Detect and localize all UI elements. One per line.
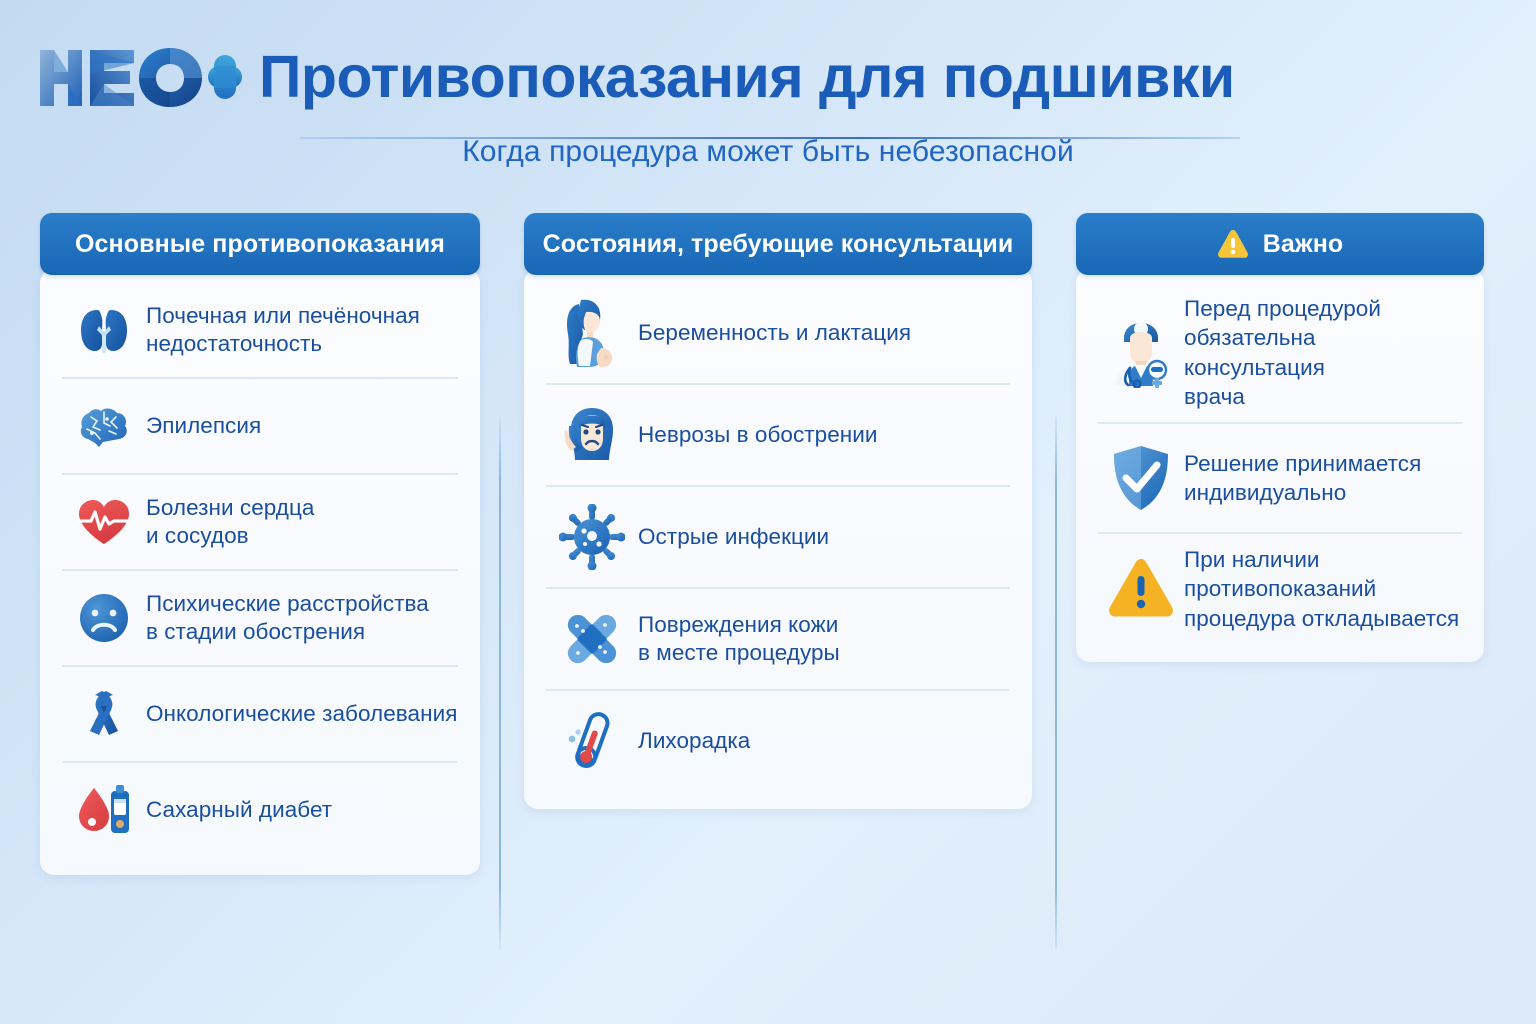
list-item-label: Беременность и лактация — [638, 319, 911, 347]
card-conditions-requiring-consultation: Состояния, требующие консультации — [524, 213, 1032, 809]
column-separator-2 — [1055, 417, 1057, 950]
list-item[interactable]: Почечная или печёночная недостаточность — [62, 283, 458, 377]
list-item[interactable]: Сахарный диабет — [62, 761, 458, 857]
virus-icon — [546, 504, 638, 570]
page-subtitle: Когда процедура может быть небезопасной — [0, 135, 1536, 169]
list-item[interactable]: Решение принимается индивидуально — [1098, 422, 1462, 532]
list-item-label: Сахарный диабет — [146, 796, 332, 824]
list-item[interactable]: Беременность и лактация — [546, 283, 1010, 383]
warning-triangle-icon — [1217, 229, 1249, 259]
warning-triangle-icon — [1098, 557, 1184, 621]
page-header: Противопоказания для подшивки Когда проц… — [0, 0, 1536, 169]
stressed-woman-icon — [546, 400, 638, 470]
column-separator-1 — [499, 417, 501, 950]
list-item[interactable]: Повреждения кожи в месте процедуры — [546, 587, 1010, 689]
list-item-label: При наличии противопоказаний процедура о… — [1184, 545, 1459, 633]
card-body-conditions: Беременность и лактация — [524, 269, 1032, 809]
brand-logo — [38, 42, 243, 112]
card-header-important[interactable]: Важно — [1076, 213, 1484, 275]
list-item[interactable]: Болезни сердца и сосудов — [62, 473, 458, 569]
card-header-main-contraindications[interactable]: Основные противопоказания — [40, 213, 480, 275]
glucometer-blood-drop-icon — [62, 779, 146, 841]
neo-plus-logo-icon — [38, 44, 243, 110]
card-main-contraindications: Основные противопоказания Почечная или п… — [40, 213, 480, 875]
list-item[interactable]: Неврозы в обострении — [546, 383, 1010, 485]
list-item[interactable]: Эпилепсия — [62, 377, 458, 473]
list-item-label: Онкологические заболевания — [146, 700, 457, 728]
list-item-label: Почечная или печёночная недостаточность — [146, 302, 420, 358]
doctor-icon — [1098, 318, 1184, 388]
pregnant-woman-icon — [546, 294, 638, 372]
bandage-icon — [546, 606, 638, 672]
page-title: Противопоказания для подшивки — [259, 48, 1235, 107]
heart-pulse-icon — [62, 491, 146, 553]
columns-container: Основные противопоказания Почечная или п… — [0, 169, 1536, 875]
list-item-label: Решение принимается индивидуально — [1184, 449, 1421, 508]
card-header-conditions[interactable]: Состояния, требующие консультации — [524, 213, 1032, 275]
list-item[interactable]: При наличии противопоказаний процедура о… — [1098, 532, 1462, 644]
list-item[interactable]: Перед процедурой обязательна консультаци… — [1098, 283, 1462, 422]
list-item-label: Перед процедурой обязательна консультаци… — [1184, 294, 1462, 411]
list-item-label: Эпилепсия — [146, 412, 261, 440]
awareness-ribbon-icon — [62, 683, 146, 745]
list-item[interactable]: Острые инфекции — [546, 485, 1010, 587]
list-item-label: Психические расстройства в стадии обостр… — [146, 590, 429, 646]
list-item-label: Неврозы в обострении — [638, 421, 878, 449]
list-item-label: Повреждения кожи в месте процедуры — [638, 611, 840, 667]
thermometer-icon — [546, 708, 638, 774]
kidneys-icon — [62, 299, 146, 361]
card-header-label: Важно — [1263, 230, 1344, 259]
list-item-label: Острые инфекции — [638, 523, 829, 551]
card-header-label: Состояния, требующие консультации — [543, 230, 1014, 259]
sad-face-icon — [62, 587, 146, 649]
card-body-important: Перед процедурой обязательна консультаци… — [1076, 269, 1484, 662]
list-item-label: Лихорадка — [638, 727, 750, 755]
card-header-label: Основные противопоказания — [75, 230, 445, 259]
list-item[interactable]: Онкологические заболевания — [62, 665, 458, 761]
title-row: Противопоказания для подшивки — [0, 42, 1536, 112]
list-item-label: Болезни сердца и сосудов — [146, 494, 314, 550]
card-body-main-contraindications: Почечная или печёночная недостаточность — [40, 269, 480, 875]
list-item[interactable]: Лихорадка — [546, 689, 1010, 791]
brain-icon — [62, 395, 146, 457]
list-item[interactable]: Психические расстройства в стадии обостр… — [62, 569, 458, 665]
card-important: Важно — [1076, 213, 1484, 662]
shield-check-icon — [1098, 443, 1184, 513]
title-divider — [300, 137, 1240, 139]
